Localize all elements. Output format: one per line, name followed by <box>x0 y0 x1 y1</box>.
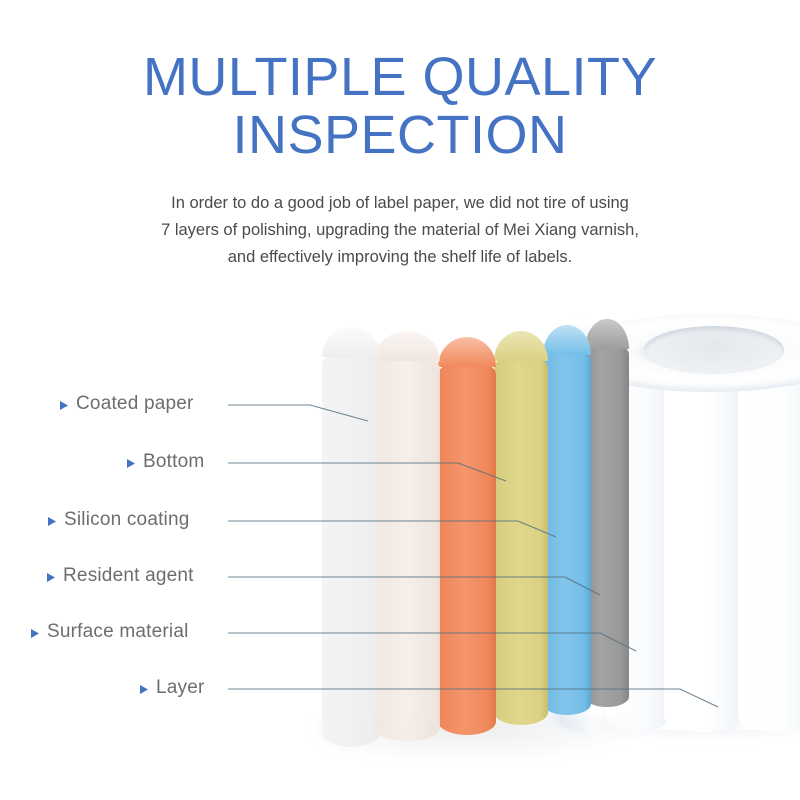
layer-sheet-resident-agent <box>494 359 548 725</box>
roll-sheet-3 <box>664 340 742 732</box>
roll-core-hole <box>644 326 784 374</box>
sheet-top-curl <box>494 331 548 361</box>
callout-surface-material[interactable]: Surface material <box>28 621 189 643</box>
triangle-right-icon <box>57 399 70 412</box>
callout-coated-paper[interactable]: Coated paper <box>57 393 194 415</box>
paragraph-line-2: 7 layers of polishing, upgrading the mat… <box>70 217 730 244</box>
callout-silicon-coating[interactable]: Silicon coating <box>45 509 190 531</box>
triangle-right-icon <box>45 515 58 528</box>
callout-label: Bottom <box>143 451 204 473</box>
paragraph-line-1: In order to do a good job of label paper… <box>70 190 730 217</box>
callout-label: Resident agent <box>63 565 194 587</box>
title-line-2: INSPECTION <box>60 106 740 164</box>
triangle-right-icon <box>124 457 137 470</box>
page-subtitle-paragraph: In order to do a good job of label paper… <box>70 190 730 271</box>
triangle-right-icon <box>28 627 41 640</box>
callout-label: Coated paper <box>76 393 194 415</box>
layer-sheet-surface-material <box>543 353 591 715</box>
sheet-top-curl <box>438 337 496 367</box>
callout-resident-agent[interactable]: Resident agent <box>44 565 194 587</box>
sheet-top-curl <box>322 327 380 357</box>
triangle-right-icon <box>44 571 57 584</box>
title-line-1: MULTIPLE QUALITY <box>143 47 657 107</box>
sheet-top-curl <box>374 331 440 361</box>
page-title: MULTIPLE QUALITY INSPECTION <box>60 48 740 164</box>
layer-sheet-coated-paper <box>322 355 380 747</box>
triangle-right-icon <box>137 683 150 696</box>
callout-label: Silicon coating <box>64 509 190 531</box>
callout-label: Surface material <box>47 621 189 643</box>
callout-layer[interactable]: Layer <box>137 677 205 699</box>
layer-sheet-silicon-coating <box>438 365 496 735</box>
callout-label: Layer <box>156 677 205 699</box>
layer-sheet-layer <box>585 347 629 707</box>
paragraph-line-3: and effectively improving the shelf life… <box>70 244 730 271</box>
header-section: MULTIPLE QUALITY INSPECTION In order to … <box>0 0 800 290</box>
callout-bottom[interactable]: Bottom <box>124 451 204 473</box>
roll-sheet-4 <box>738 340 800 732</box>
layer-diagram: Coated paper Bottom Silicon coating Resi… <box>0 285 800 800</box>
layer-sheet-bottom <box>374 359 440 741</box>
